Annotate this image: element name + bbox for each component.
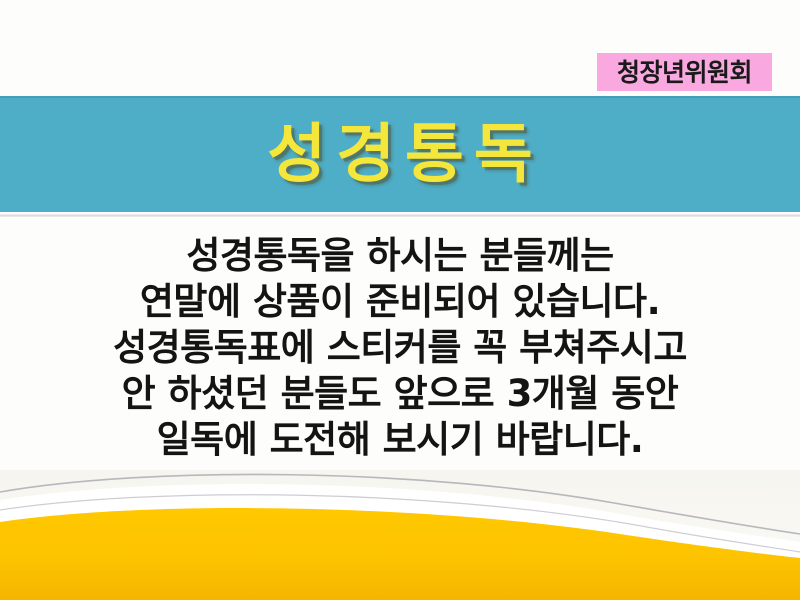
body-line: 일독에 도전해 보시기 바랍니다.	[0, 417, 800, 463]
slide-title: 성경통독	[257, 123, 543, 187]
body-text-block: 성경통독을 하시는 분들께는 연말에 상품이 준비되어 있습니다. 성경통독표에…	[0, 233, 800, 463]
committee-badge: 청장년위원회	[597, 53, 772, 91]
body-line: 성경통독표에 스티커를 꼭 부쳐주시고	[0, 325, 800, 371]
body-line: 안 하셨던 분들도 앞으로 3개월 동안	[0, 371, 800, 417]
body-line: 성경통독을 하시는 분들께는	[0, 233, 800, 279]
bottom-wave-decoration	[0, 470, 800, 600]
title-banner: 성경통독	[0, 96, 800, 212]
committee-badge-label: 청장년위원회	[617, 60, 752, 85]
slide-canvas: 청장년위원회 성경통독 성경통독을 하시는 분들께는 연말에 상품이 준비되어 …	[0, 0, 800, 600]
body-line: 연말에 상품이 준비되어 있습니다.	[0, 279, 800, 325]
banner-divider	[0, 212, 800, 217]
